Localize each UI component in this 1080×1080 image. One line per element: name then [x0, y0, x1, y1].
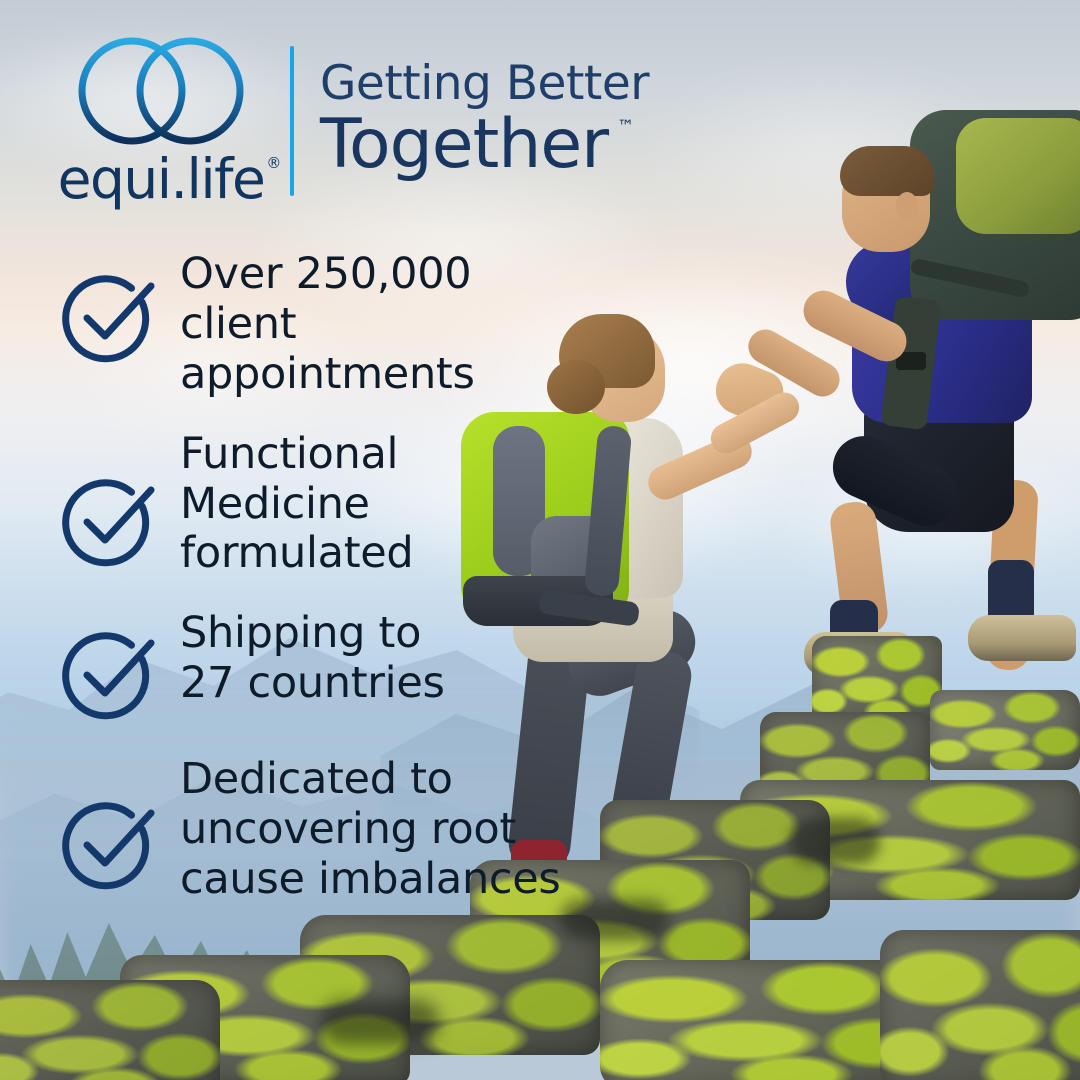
list-item-line: appointments — [180, 350, 600, 400]
list-item-line: Over 250,000 client — [180, 250, 600, 350]
trademark-mark: ™ — [617, 119, 634, 137]
list-item: Over 250,000 client appointments — [40, 248, 600, 400]
list-item-line: Dedicated to — [180, 755, 561, 805]
logo[interactable]: equi.life ® — [46, 34, 276, 207]
check-icon-wrap — [40, 753, 180, 895]
wordmark-text: equi.life — [58, 147, 265, 211]
list-item: Dedicated to uncovering root cause imbal… — [40, 753, 600, 905]
check-icon-wrap — [40, 607, 180, 725]
feature-list: Over 250,000 client appointments Functio… — [40, 248, 600, 905]
list-item-line: cause imbalances — [180, 855, 561, 905]
tagline-line-1: Getting Better — [320, 60, 649, 107]
list-item-line: Medicine — [180, 480, 413, 530]
circle-check-icon — [58, 468, 162, 572]
check-icon-wrap — [40, 428, 180, 572]
list-item: Functional Medicine formulated — [40, 428, 600, 580]
list-item-text: Functional Medicine formulated — [180, 428, 413, 580]
circle-check-icon — [58, 621, 162, 725]
list-item-line: uncovering root — [180, 805, 561, 855]
circle-check-icon — [58, 264, 162, 368]
tagline-line-2-text: Together — [320, 105, 608, 184]
list-item-text: Over 250,000 client appointments — [180, 248, 600, 400]
list-item-line: formulated — [180, 529, 413, 579]
content-overlay: equi.life ® Getting Better Together ™ — [0, 0, 1080, 1080]
brand-lockup: equi.life ® Getting Better Together ™ — [46, 34, 649, 207]
list-item-line: 27 countries — [180, 659, 445, 709]
list-item-line: Shipping to — [180, 609, 445, 659]
wordmark: equi.life ® — [58, 152, 265, 207]
list-item-text: Shipping to 27 countries — [180, 607, 445, 709]
list-item-text: Dedicated to uncovering root cause imbal… — [180, 753, 561, 905]
registered-mark: ® — [266, 156, 281, 171]
list-item-line: Functional — [180, 430, 413, 480]
promo-graphic: equi.life ® Getting Better Together ™ — [0, 0, 1080, 1080]
circle-check-icon — [58, 791, 162, 895]
tagline: Getting Better Together ™ — [320, 60, 649, 180]
tagline-line-2: Together ™ — [320, 109, 608, 180]
list-item: Shipping to 27 countries — [40, 607, 600, 725]
brand-divider — [290, 46, 294, 196]
equilife-rings-icon — [75, 34, 247, 148]
check-icon-wrap — [40, 248, 180, 368]
